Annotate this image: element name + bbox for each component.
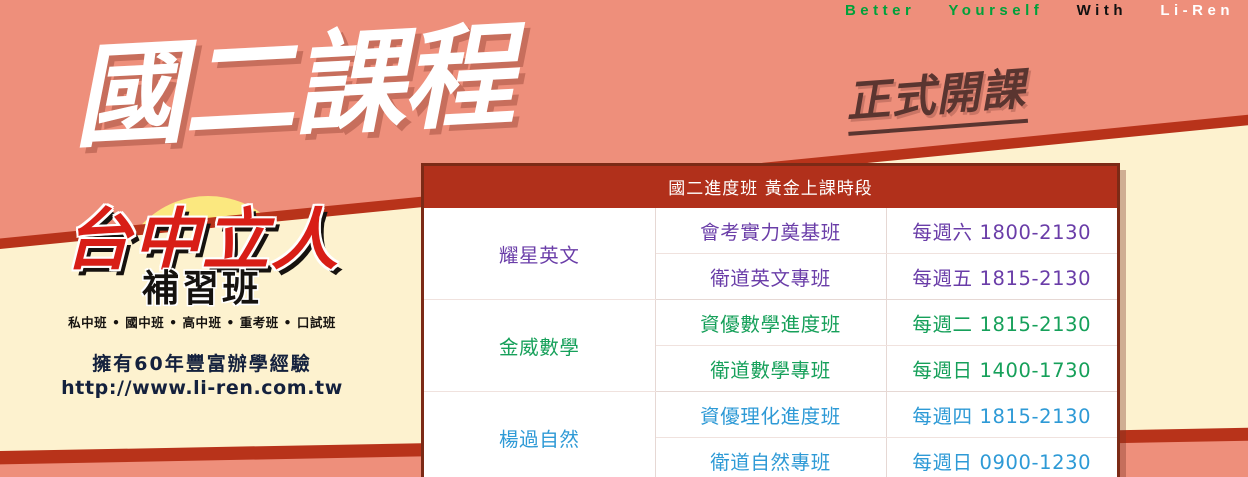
promo-banner: Better Yourself With Li-Ren 國二課程 正式開課 台中… xyxy=(0,0,1248,477)
schedule-table-body: 耀星英文會考實力奠基班每週六 1800-2130衛道英文專班每週五 1815-2… xyxy=(424,208,1117,477)
course-name-cell: 衛道英文專班 xyxy=(655,254,886,300)
course-name-cell: 衛道數學專班 xyxy=(655,346,886,392)
logo-experience-text: 擁有60年豐富辦學經驗 xyxy=(26,349,378,376)
table-header-row: 國二進度班 黃金上課時段 xyxy=(424,166,1117,208)
subject-cell: 楊過自然 xyxy=(424,392,655,477)
schedule-table: 國二進度班 黃金上課時段 耀星英文會考實力奠基班每週六 1800-2130衛道英… xyxy=(424,166,1117,477)
tagline-word-with: With xyxy=(1077,2,1127,19)
page-title: 國二課程 xyxy=(68,0,516,170)
schedule-table-head: 國二進度班 黃金上課時段 xyxy=(424,166,1117,208)
course-name-cell: 資優理化進度班 xyxy=(655,392,886,438)
logo-website-url: http://www.li-ren.com.tw xyxy=(26,377,378,399)
subject-cell: 金威數學 xyxy=(424,300,655,392)
course-time-cell: 每週六 1800-2130 xyxy=(886,208,1117,254)
course-name-cell: 衛道自然專班 xyxy=(655,438,886,477)
course-time-cell: 每週五 1815-2130 xyxy=(886,254,1117,300)
course-name-cell: 資優數學進度班 xyxy=(655,300,886,346)
course-time-cell: 每週二 1815-2130 xyxy=(886,300,1117,346)
table-row: 楊過自然資優理化進度班每週四 1815-2130 xyxy=(424,392,1117,438)
course-time-cell: 每週日 1400-1730 xyxy=(886,346,1117,392)
tagline-word-better: Better xyxy=(845,2,915,19)
logo-brand-name: 台中立人 xyxy=(26,206,378,274)
tagline-word-liren: Li-Ren xyxy=(1160,2,1234,19)
status-badge: 正式開課 xyxy=(843,53,1028,136)
table-row: 耀星英文會考實力奠基班每週六 1800-2130 xyxy=(424,208,1117,254)
schedule-table-title: 國二進度班 黃金上課時段 xyxy=(424,166,1117,208)
course-time-cell: 每週四 1815-2130 xyxy=(886,392,1117,438)
course-name-cell: 會考實力奠基班 xyxy=(655,208,886,254)
schedule-table-container: 國二進度班 黃金上課時段 耀星英文會考實力奠基班每週六 1800-2130衛道英… xyxy=(421,163,1120,477)
subject-cell: 耀星英文 xyxy=(424,208,655,300)
tagline-word-yourself: Yourself xyxy=(948,2,1043,19)
table-row: 金威數學資優數學進度班每週二 1815-2130 xyxy=(424,300,1117,346)
logo: 台中立人 補習班 私中班 • 國中班 • 高中班 • 重考班 • 口試班 擁有6… xyxy=(26,206,378,399)
course-time-cell: 每週日 0900-1230 xyxy=(886,438,1117,477)
logo-course-types: 私中班 • 國中班 • 高中班 • 重考班 • 口試班 xyxy=(26,312,378,331)
